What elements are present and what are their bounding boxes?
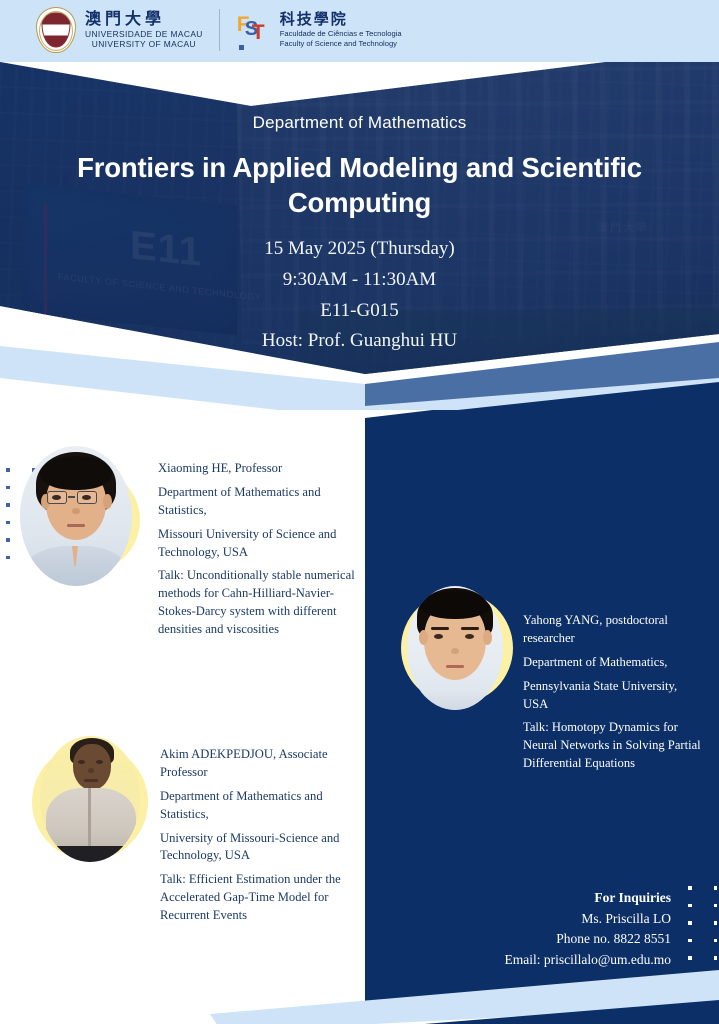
page-title: Frontiers in Applied Modeling and Scient… — [42, 150, 677, 220]
event-venue: E11-G015 — [0, 296, 719, 327]
hero-banner: E11 FACULTY OF SCIENCE AND TECHNOLOGY 科技… — [0, 44, 719, 374]
speaker-talk-title: Talk: Homotopy Dynamics for Neural Netwo… — [523, 719, 705, 773]
decorative-dot-grid-right — [688, 886, 717, 960]
portrait-xiaoming-he — [20, 446, 132, 586]
dot — [6, 556, 10, 560]
inquiries-heading: For Inquiries — [504, 888, 671, 909]
dot — [714, 886, 718, 890]
um-crest-ring — [39, 11, 73, 51]
dot — [6, 486, 10, 490]
um-logo-english: UNIVERSITY OF MACAU — [85, 40, 203, 49]
university-of-macau-logo: 澳門大學 UNIVERSIDADE DE MACAU UNIVERSITY OF… — [36, 7, 203, 53]
fst-letter-t: T — [252, 22, 265, 43]
um-logo-chinese: 澳門大學 — [85, 11, 203, 28]
speaker-affiliation: Missouri University of Science and Techn… — [158, 526, 358, 562]
dot — [6, 521, 10, 525]
hero-text-block: Department of Mathematics Frontiers in A… — [0, 44, 719, 374]
speaker-talk-title: Talk: Efficient Estimation under the Acc… — [160, 871, 352, 925]
fst-mark-dot — [239, 45, 244, 50]
speaker-department: Department of Mathematics and Statistics… — [158, 484, 358, 520]
dot — [6, 538, 10, 542]
dot — [714, 939, 718, 943]
dot — [688, 939, 692, 943]
inquiries-email: Email: priscillalo@um.edu.mo — [504, 950, 671, 971]
dot — [714, 921, 718, 925]
speaker-card-akim-adekpedjou: Akim ADEKPEDJOU, Associate Professor Dep… — [28, 736, 358, 925]
dot — [6, 468, 10, 472]
event-host: Host: Prof. Guanghui HU — [0, 326, 719, 357]
speaker-department: Department of Mathematics and Statistics… — [160, 788, 352, 824]
speaker-card-yahong-yang: Yahong YANG, postdoctoral researcher Dep… — [395, 586, 705, 773]
um-crest-icon — [36, 7, 76, 53]
dot — [714, 904, 718, 908]
dot — [688, 904, 692, 908]
event-details: 15 May 2025 (Thursday) 9:30AM - 11:30AM … — [0, 234, 719, 357]
speaker-affiliation: Pennsylvania State University, USA — [523, 678, 705, 714]
fst-mark-icon: F S T — [236, 10, 270, 50]
dot — [688, 956, 692, 960]
portrait-yahong-yang — [407, 586, 503, 710]
speaker-card-xiaoming-he: Xiaoming HE, Professor Department of Mat… — [20, 446, 360, 639]
avatar — [20, 446, 142, 596]
fst-logo: F S T 科技學院 Faculdade de Ciências e Tecno… — [236, 10, 402, 50]
speaker-name-title: Akim ADEKPEDJOU, Associate Professor — [160, 746, 352, 782]
dot — [6, 503, 10, 507]
speaker-name-title: Xiaoming HE, Professor — [158, 460, 358, 478]
dot — [688, 921, 692, 925]
inquiries-block: For Inquiries Ms. Priscilla LO Phone no.… — [504, 888, 671, 970]
speaker-talk-title: Talk: Unconditionally stable numerical m… — [158, 567, 358, 639]
event-date: 15 May 2025 (Thursday) — [0, 234, 719, 265]
fst-logo-chinese: 科技學院 — [280, 11, 402, 28]
speaker-affiliation: University of Missouri-Science and Techn… — [160, 830, 352, 866]
speaker-bio-akim-adekpedjou: Akim ADEKPEDJOU, Associate Professor Dep… — [160, 736, 352, 925]
speaker-name-title: Yahong YANG, postdoctoral researcher — [523, 612, 705, 648]
speaker-department: Department of Mathematics, — [523, 654, 705, 672]
avatar — [395, 586, 513, 716]
dot — [714, 956, 718, 960]
fst-logo-portuguese: Faculdade de Ciências e Tecnologia — [280, 30, 402, 39]
speaker-bio-xiaoming-he: Xiaoming HE, Professor Department of Mat… — [158, 446, 358, 639]
speaker-bio-yahong-yang: Yahong YANG, postdoctoral researcher Dep… — [523, 586, 705, 773]
dot — [688, 886, 692, 890]
event-time: 9:30AM - 11:30AM — [0, 265, 719, 296]
portrait-akim-adekpedjou — [40, 736, 140, 862]
um-logo-portuguese: UNIVERSIDADE DE MACAU — [85, 30, 203, 39]
fst-logo-english: Faculty of Science and Technology — [280, 40, 402, 49]
inquiries-contact-name: Ms. Priscilla LO — [504, 909, 671, 930]
avatar — [28, 736, 152, 862]
logo-divider — [219, 9, 220, 51]
inquiries-phone: Phone no. 8822 8551 — [504, 929, 671, 950]
department-label: Department of Mathematics — [0, 113, 719, 133]
logo-bar: 澳門大學 UNIVERSIDADE DE MACAU UNIVERSITY OF… — [0, 0, 719, 62]
seminar-poster: E11 FACULTY OF SCIENCE AND TECHNOLOGY 科技… — [0, 0, 719, 1024]
